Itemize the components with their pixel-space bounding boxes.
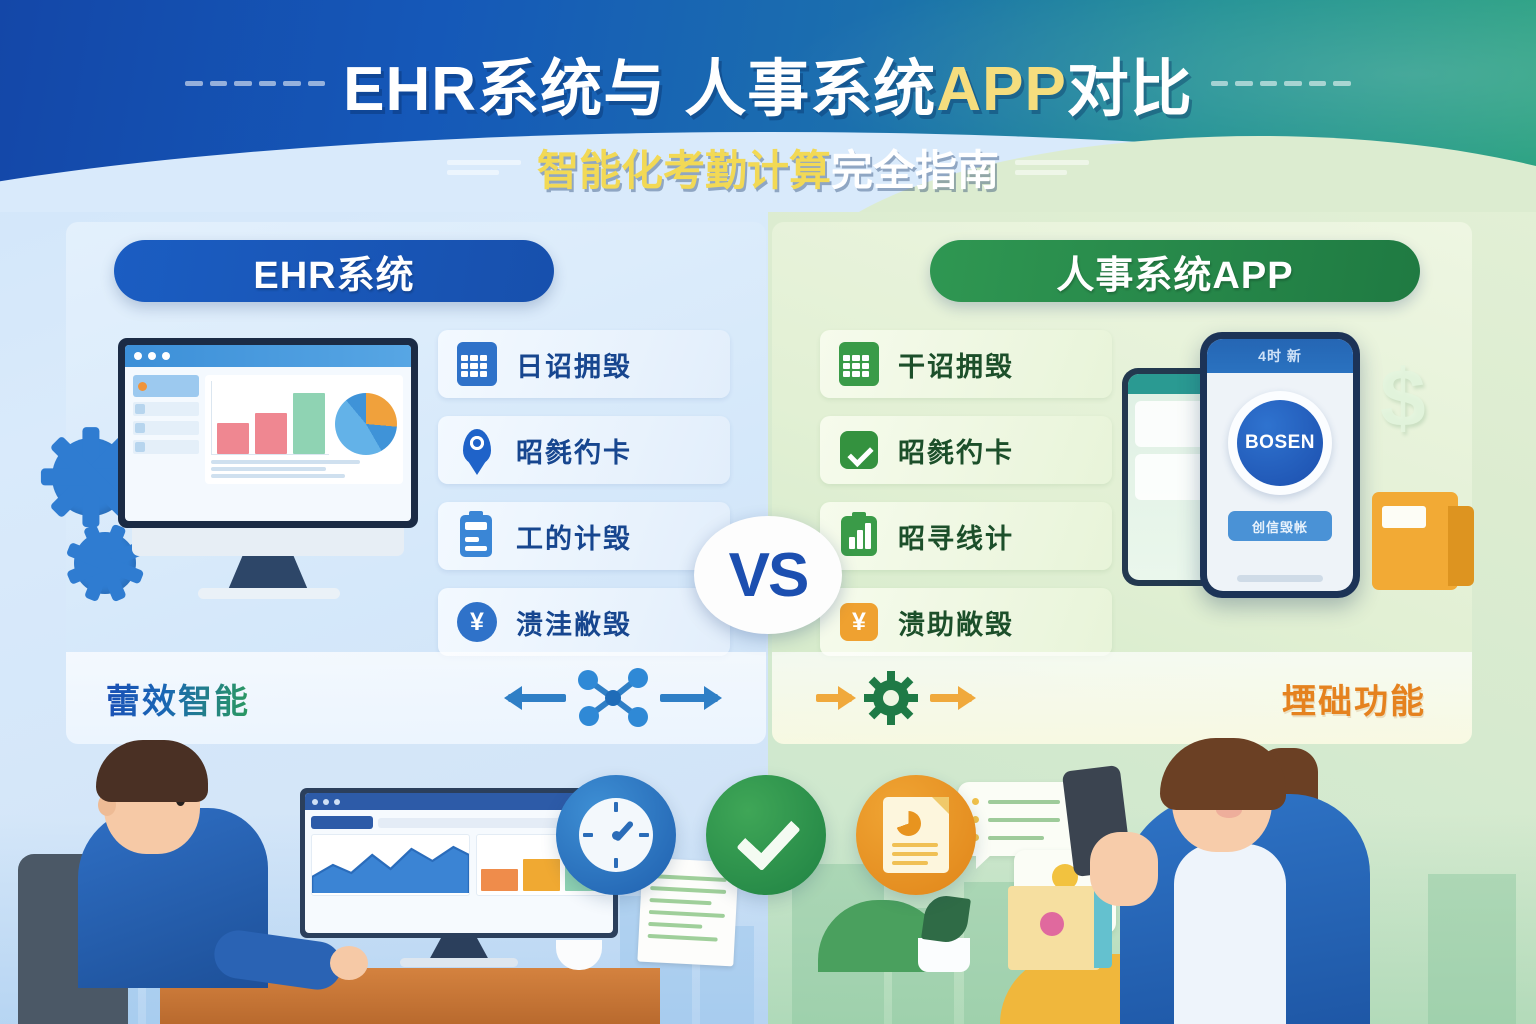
bar-chart-icon [836,513,882,559]
browser-titlebar [125,345,411,367]
report-badge [856,775,976,895]
desktop-monitor-illustration [118,338,418,588]
list-item-label: 溃洼敝毁 [516,603,632,642]
monitor-base [198,588,340,599]
female-worker-hand [1090,832,1158,906]
panel-left-title-pill: EHR系统 [114,240,554,302]
phone-status-label: 4时 新 [1258,346,1302,366]
phone-home-indicator [1237,575,1323,582]
calendar-icon [836,341,882,387]
title-tail-text: 对比 [1067,55,1193,124]
calendar-clipboard-icon [454,341,500,387]
phone-button-label: 创信毁帐 [1252,517,1308,536]
list-item[interactable]: ¥ 溃助敞毁 [820,588,1112,656]
gear-flow-icon [816,671,972,725]
list-item[interactable]: 日诏拥毁 [438,330,730,398]
vs-label: VS [729,540,808,611]
notebook-stack [1008,886,1100,970]
panel-left-title: EHR系统 [253,244,414,299]
header-banner: EHR系统与 人事系统APP对比 智能化考勤计算完全指南 [0,0,1536,212]
panel-right-footer: 堙础功能 [772,652,1472,744]
male-worker-hair [96,740,208,802]
clock-badge [556,775,676,895]
female-worker-hair [1160,738,1286,810]
subtitle-white-text: 完全指南 [831,147,999,194]
plant-pot [918,938,970,972]
feature-list-left: 日诏拥毁 昭毵彴卡 工的计毁 [438,330,730,656]
monitor-screen [118,338,418,528]
report-document-icon [883,797,949,873]
chat-bubble-list [958,782,1080,856]
folder-icon [1372,492,1458,590]
app-logo: BOSEN [1228,391,1332,495]
female-worker-shirt [1174,844,1286,1024]
app-logo-label: BOSEN [1245,432,1315,454]
list-item-label: 工的计毁 [516,517,632,556]
location-pin-icon [454,427,500,473]
list-item[interactable]: 昭毵彴卡 [438,416,730,484]
list-item-label: 干诏拥毁 [898,345,1014,384]
clock-icon [579,798,653,872]
pie-chart [335,393,397,455]
infographic-canvas: EHR系统与 人事系统APP对比 智能化考勤计算完全指南 EHR系统 [0,0,1536,1024]
primary-phone-illustration: 4时 新 BOSEN 创信毁帐 [1200,332,1360,598]
dashboard-sidebar [133,375,199,484]
checkmark-icon [836,427,882,473]
node-graph-svg [576,668,650,728]
list-item[interactable]: 昭毵彴卡 [820,416,1112,484]
panel-right-footer-label: 堙础功能 [1282,674,1426,723]
center-badge-row [556,760,976,910]
feature-list-right: 干诏拥毁 昭毵彴卡 昭寻线计 [820,330,1112,656]
title-row: EHR系统与 人事系统APP对比 [0,38,1536,128]
phone-statusbar: 4时 新 [1207,339,1353,373]
list-item-label: 日诏拥毁 [516,345,632,384]
subtitle-row: 智能化考勤计算完全指南 [0,137,1536,198]
monitor-neck [228,556,308,590]
title-main-text: EHR系统与 人事系统 [343,55,936,124]
list-item-label: 昭毵彴卡 [516,431,632,470]
panel-left-footer-label: 蕾效智能 [106,674,250,723]
subtitle-dash-right [1015,160,1089,175]
subtitle-yellow-text: 智能化考勤计算 [537,147,831,194]
title-dash-left [185,81,325,86]
monitor-stand [132,528,404,556]
dashboard-text-lines [211,460,397,478]
page-title: EHR系统与 人事系统APP对比 [343,38,1193,128]
page-subtitle: 智能化考勤计算完全指南 [537,137,999,198]
panel-right-title-pill: 人事系统APP [930,240,1420,302]
list-item[interactable]: 工的计毁 [438,502,730,570]
yen-circle-icon: ¥ [454,599,500,645]
network-node-icon [508,668,718,728]
list-item[interactable]: 昭寻线计 [820,502,1112,570]
vs-badge: VS [694,516,842,634]
check-badge [706,775,826,895]
list-item-label: 昭毵彴卡 [898,431,1014,470]
list-item-label: 昭寻线计 [898,517,1014,556]
area-chart [311,834,470,896]
phone-primary-button[interactable]: 创信毁帐 [1228,511,1332,541]
panel-left-footer: 蕾效智能 [66,652,766,744]
title-dash-right [1211,81,1351,86]
list-item-label: 溃助敞毁 [898,603,1014,642]
dashboard-main [205,375,403,484]
subtitle-dash-left [447,160,521,175]
document-clipboard-icon [454,513,500,559]
title-accent-text: APP [936,55,1066,124]
dollar-symbol-icon: $ [1380,352,1426,446]
list-item[interactable]: ¥ 溃洼敝毁 [438,588,730,656]
yen-square-icon: ¥ [836,599,882,645]
gear-icon [864,671,918,725]
panel-right-title: 人事系统APP [1056,244,1293,299]
bar-chart [211,381,329,455]
list-item[interactable]: 干诏拥毁 [820,330,1112,398]
